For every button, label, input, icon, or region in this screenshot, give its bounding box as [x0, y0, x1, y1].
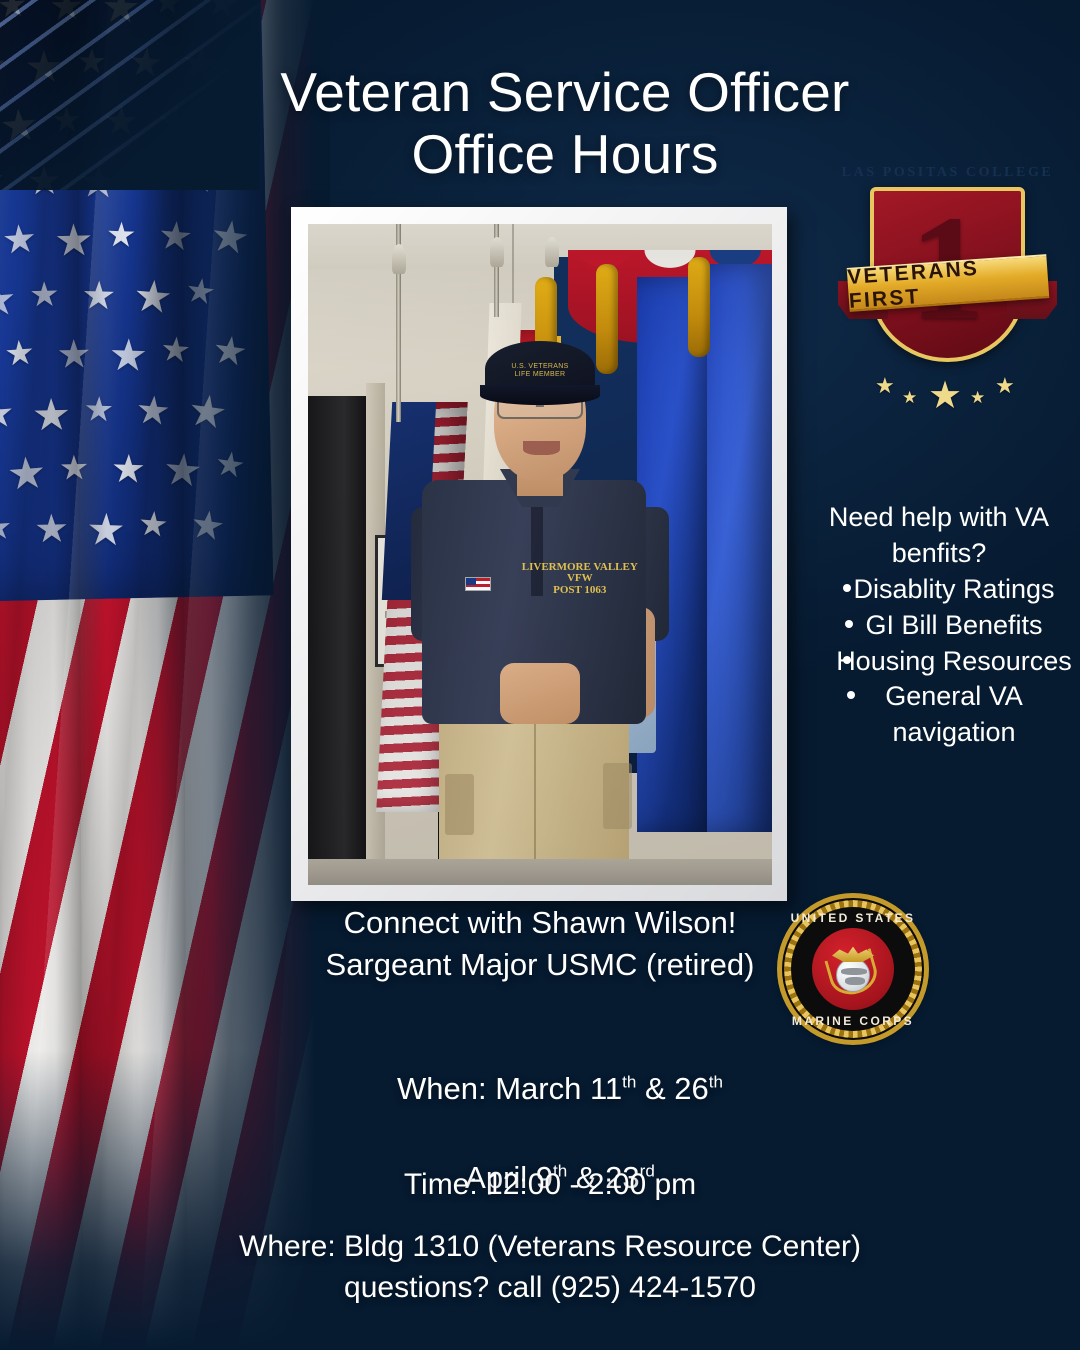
- star-icon: ★: [970, 389, 985, 406]
- when-line-1: When: March 11th & 26th: [397, 1071, 723, 1106]
- clasped-hands: [500, 663, 581, 724]
- time-text: Time: 12:00 - 2:00 pm: [240, 1168, 860, 1202]
- usmc-seal-icon: UNITED STATES MARINE CORPS: [782, 898, 924, 1040]
- list-item: GI Bill Benefits: [805, 608, 1073, 644]
- list-item: General VA navigation: [805, 679, 1073, 750]
- star-icon: ★: [902, 389, 917, 406]
- blue-flag: [707, 264, 772, 832]
- shorts-seam: [534, 702, 536, 885]
- floor: [308, 859, 772, 885]
- bullet-icon: [845, 620, 853, 628]
- bullet-icon: [843, 656, 851, 664]
- list-item: Housing Resources: [805, 644, 1073, 680]
- list-item-label: General VA navigation: [805, 679, 1073, 750]
- photo-frame: ★ ★ ★ VETERANS Honor Above All: [291, 207, 787, 901]
- door: [308, 396, 368, 885]
- officer-photo: ★ ★ ★ VETERANS Honor Above All: [308, 224, 772, 885]
- badge-stars: ★★★★★: [830, 353, 1065, 409]
- va-help-question: Need help with VA benfits?: [805, 500, 1073, 571]
- star-icon: ★: [995, 375, 1015, 397]
- cap-brim: [480, 385, 601, 404]
- list-item: Disablity Ratings: [805, 572, 1073, 608]
- mouth: [523, 441, 560, 455]
- flag-finial: [392, 244, 406, 274]
- star-icon: ★: [928, 377, 962, 415]
- star-icon: ★: [875, 375, 895, 397]
- american-flag-graphic: ★★★★★★★★★★★★★★★★★★★★★★★★★★★★★★★★★★★★★★★★…: [0, 0, 330, 1350]
- page-title: Veteran Service Officer Office Hours: [200, 62, 930, 185]
- vfw-logo: LIVERMORE VALLEY VFW POST 1063: [522, 562, 638, 597]
- poster-root: ★★★★★★★★★★★★★★★★★★★★★★★★★★★★★★★★★★★★★★★★…: [0, 0, 1080, 1350]
- veterans-first-badge: LAS POSITAS COLLEGE 1 VETERANS FIRST ★★★…: [830, 165, 1065, 410]
- shorts-pocket: [445, 774, 474, 835]
- flag-tassel: [688, 257, 710, 357]
- connect-text: Connect with Shawn Wilson! Sargeant Majo…: [300, 902, 780, 985]
- seal-top-text: UNITED STATES: [782, 911, 924, 925]
- globe-icon: [836, 958, 870, 992]
- flag-patch: [465, 577, 491, 591]
- person-figure: LIVERMORE VALLEY VFW POST 1063 U.S. VETE…: [396, 330, 684, 885]
- flag-finial: [545, 237, 559, 267]
- college-name: LAS POSITAS COLLEGE: [830, 165, 1065, 181]
- va-help-block: Need help with VA benfits? Disablity Rat…: [805, 500, 1073, 750]
- eagle-globe-anchor-icon: [826, 942, 880, 996]
- where-text: Where: Bldg 1310 (Veterans Resource Cent…: [150, 1227, 950, 1309]
- va-help-list: Disablity Ratings GI Bill Benefits Housi…: [805, 572, 1073, 750]
- shorts-pocket: [603, 763, 632, 830]
- flag-finial: [490, 237, 504, 267]
- seal-center: [812, 928, 894, 1010]
- cap-text: U.S. VETERANS LIFE MEMBER: [491, 363, 589, 380]
